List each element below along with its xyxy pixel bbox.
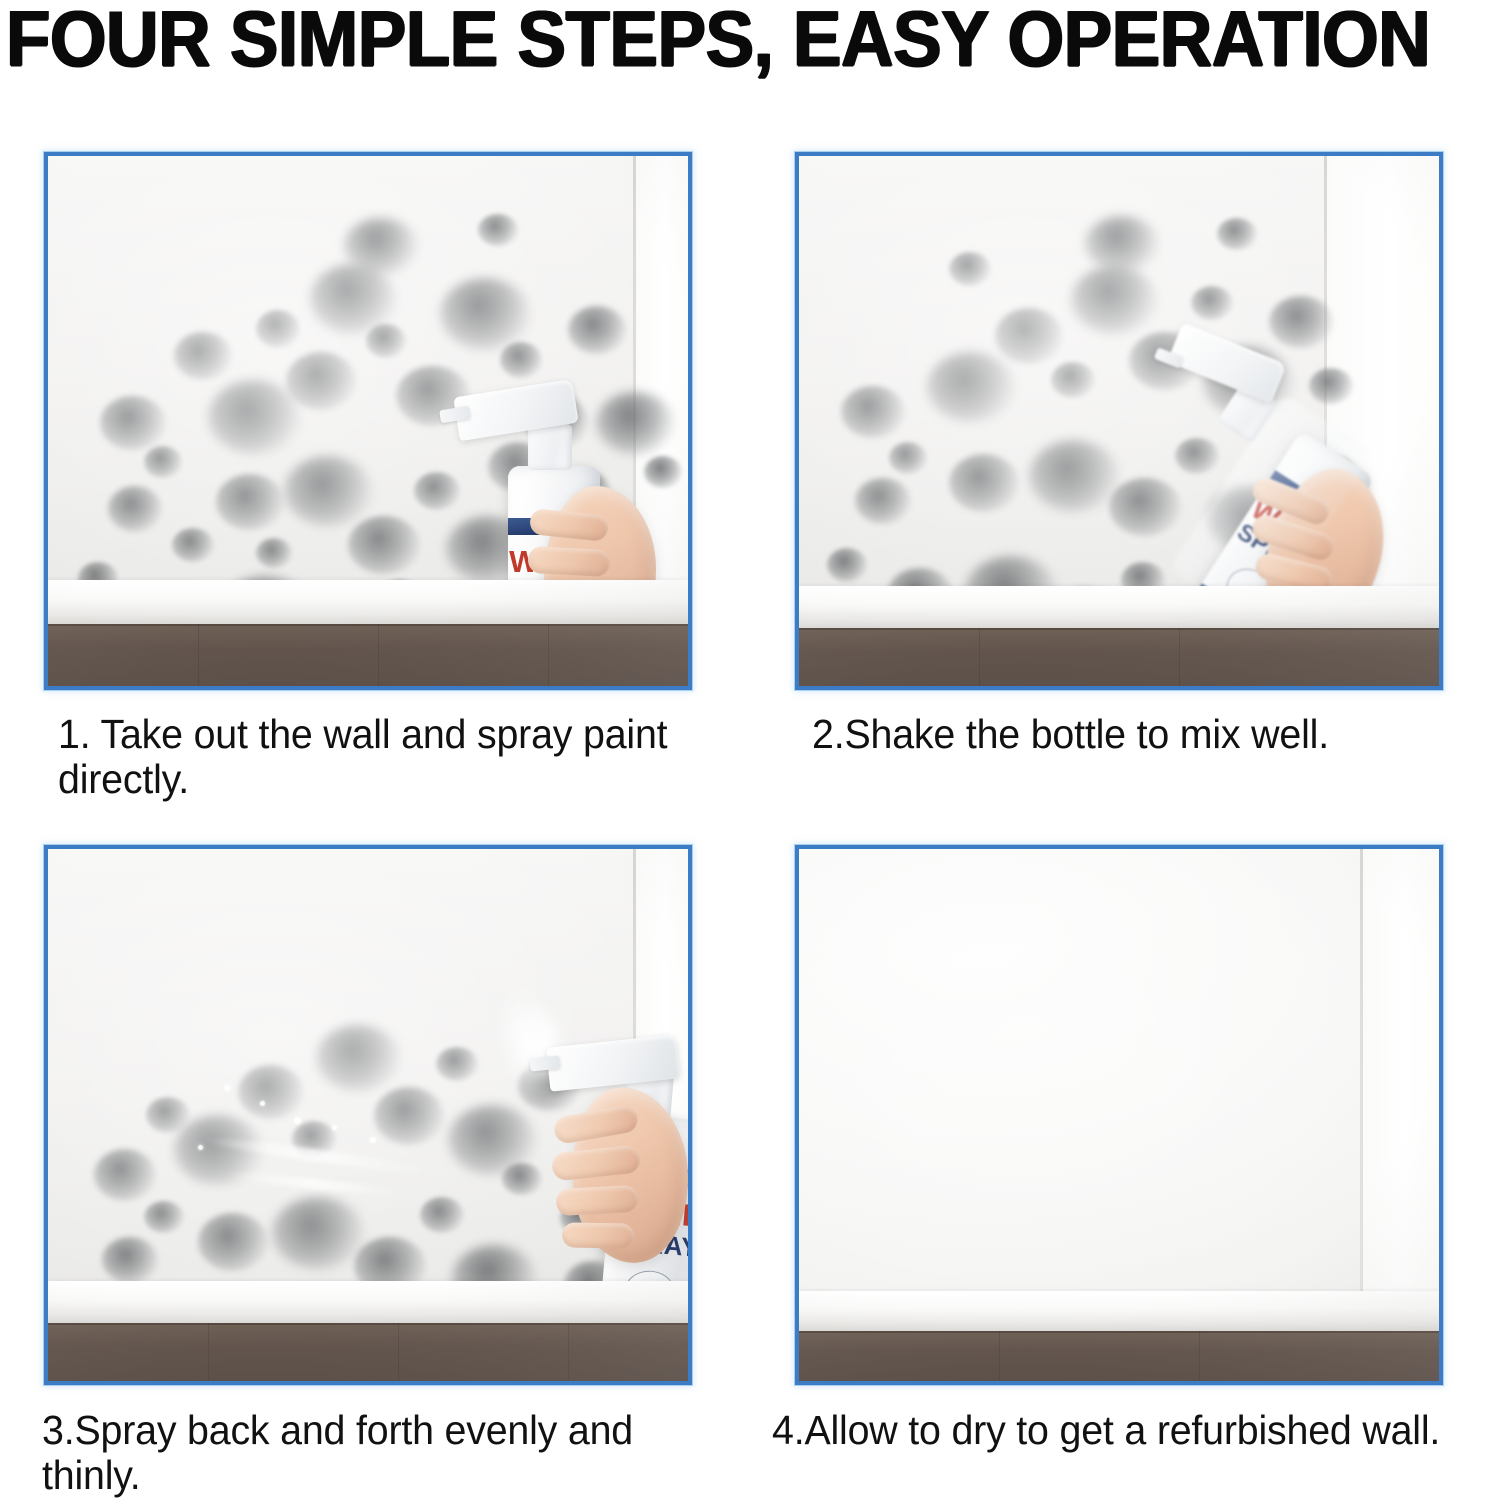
step-image-1: SIR-FISH WALL SPRAY MOULD REMOVER NET 10… bbox=[44, 152, 692, 690]
step-caption-3: 3.Spray back and forth evenly and thinly… bbox=[42, 1408, 714, 1498]
floor bbox=[48, 1323, 688, 1381]
scene-moldy-wall-2: SIR-FISH WALL SPRAY bbox=[799, 156, 1439, 686]
step-panel-3: SIR-FISH WALL SPRAY bbox=[44, 845, 692, 1385]
step-image-4 bbox=[795, 845, 1443, 1385]
step-image-3: SIR-FISH WALL SPRAY bbox=[44, 845, 692, 1385]
step-caption-2: 2.Shake the bottle to mix well. bbox=[812, 712, 1474, 757]
baseboard bbox=[799, 1291, 1439, 1331]
step-caption-4: 4.Allow to dry to get a refurbished wall… bbox=[772, 1408, 1482, 1453]
step-panel-4 bbox=[795, 845, 1443, 1385]
page-title: FOUR SIMPLE STEPS, EASY OPERATION bbox=[6, 0, 1487, 81]
floor bbox=[48, 624, 688, 686]
step-image-2: SIR-FISH WALL SPRAY bbox=[795, 152, 1443, 690]
step-caption-1: 1. Take out the wall and spray paint dir… bbox=[58, 712, 730, 802]
scene-moldy-wall-1: SIR-FISH WALL SPRAY MOULD REMOVER NET 10… bbox=[48, 156, 688, 686]
scene-clean-wall bbox=[799, 849, 1439, 1381]
scene-moldy-wall-3: SIR-FISH WALL SPRAY bbox=[48, 849, 688, 1381]
baseboard bbox=[799, 586, 1439, 628]
baseboard bbox=[48, 580, 688, 624]
step-panel-1: SIR-FISH WALL SPRAY MOULD REMOVER NET 10… bbox=[44, 152, 692, 690]
step-panel-2: SIR-FISH WALL SPRAY bbox=[795, 152, 1443, 690]
floor bbox=[799, 1331, 1439, 1381]
floor bbox=[799, 628, 1439, 686]
baseboard bbox=[48, 1281, 688, 1323]
